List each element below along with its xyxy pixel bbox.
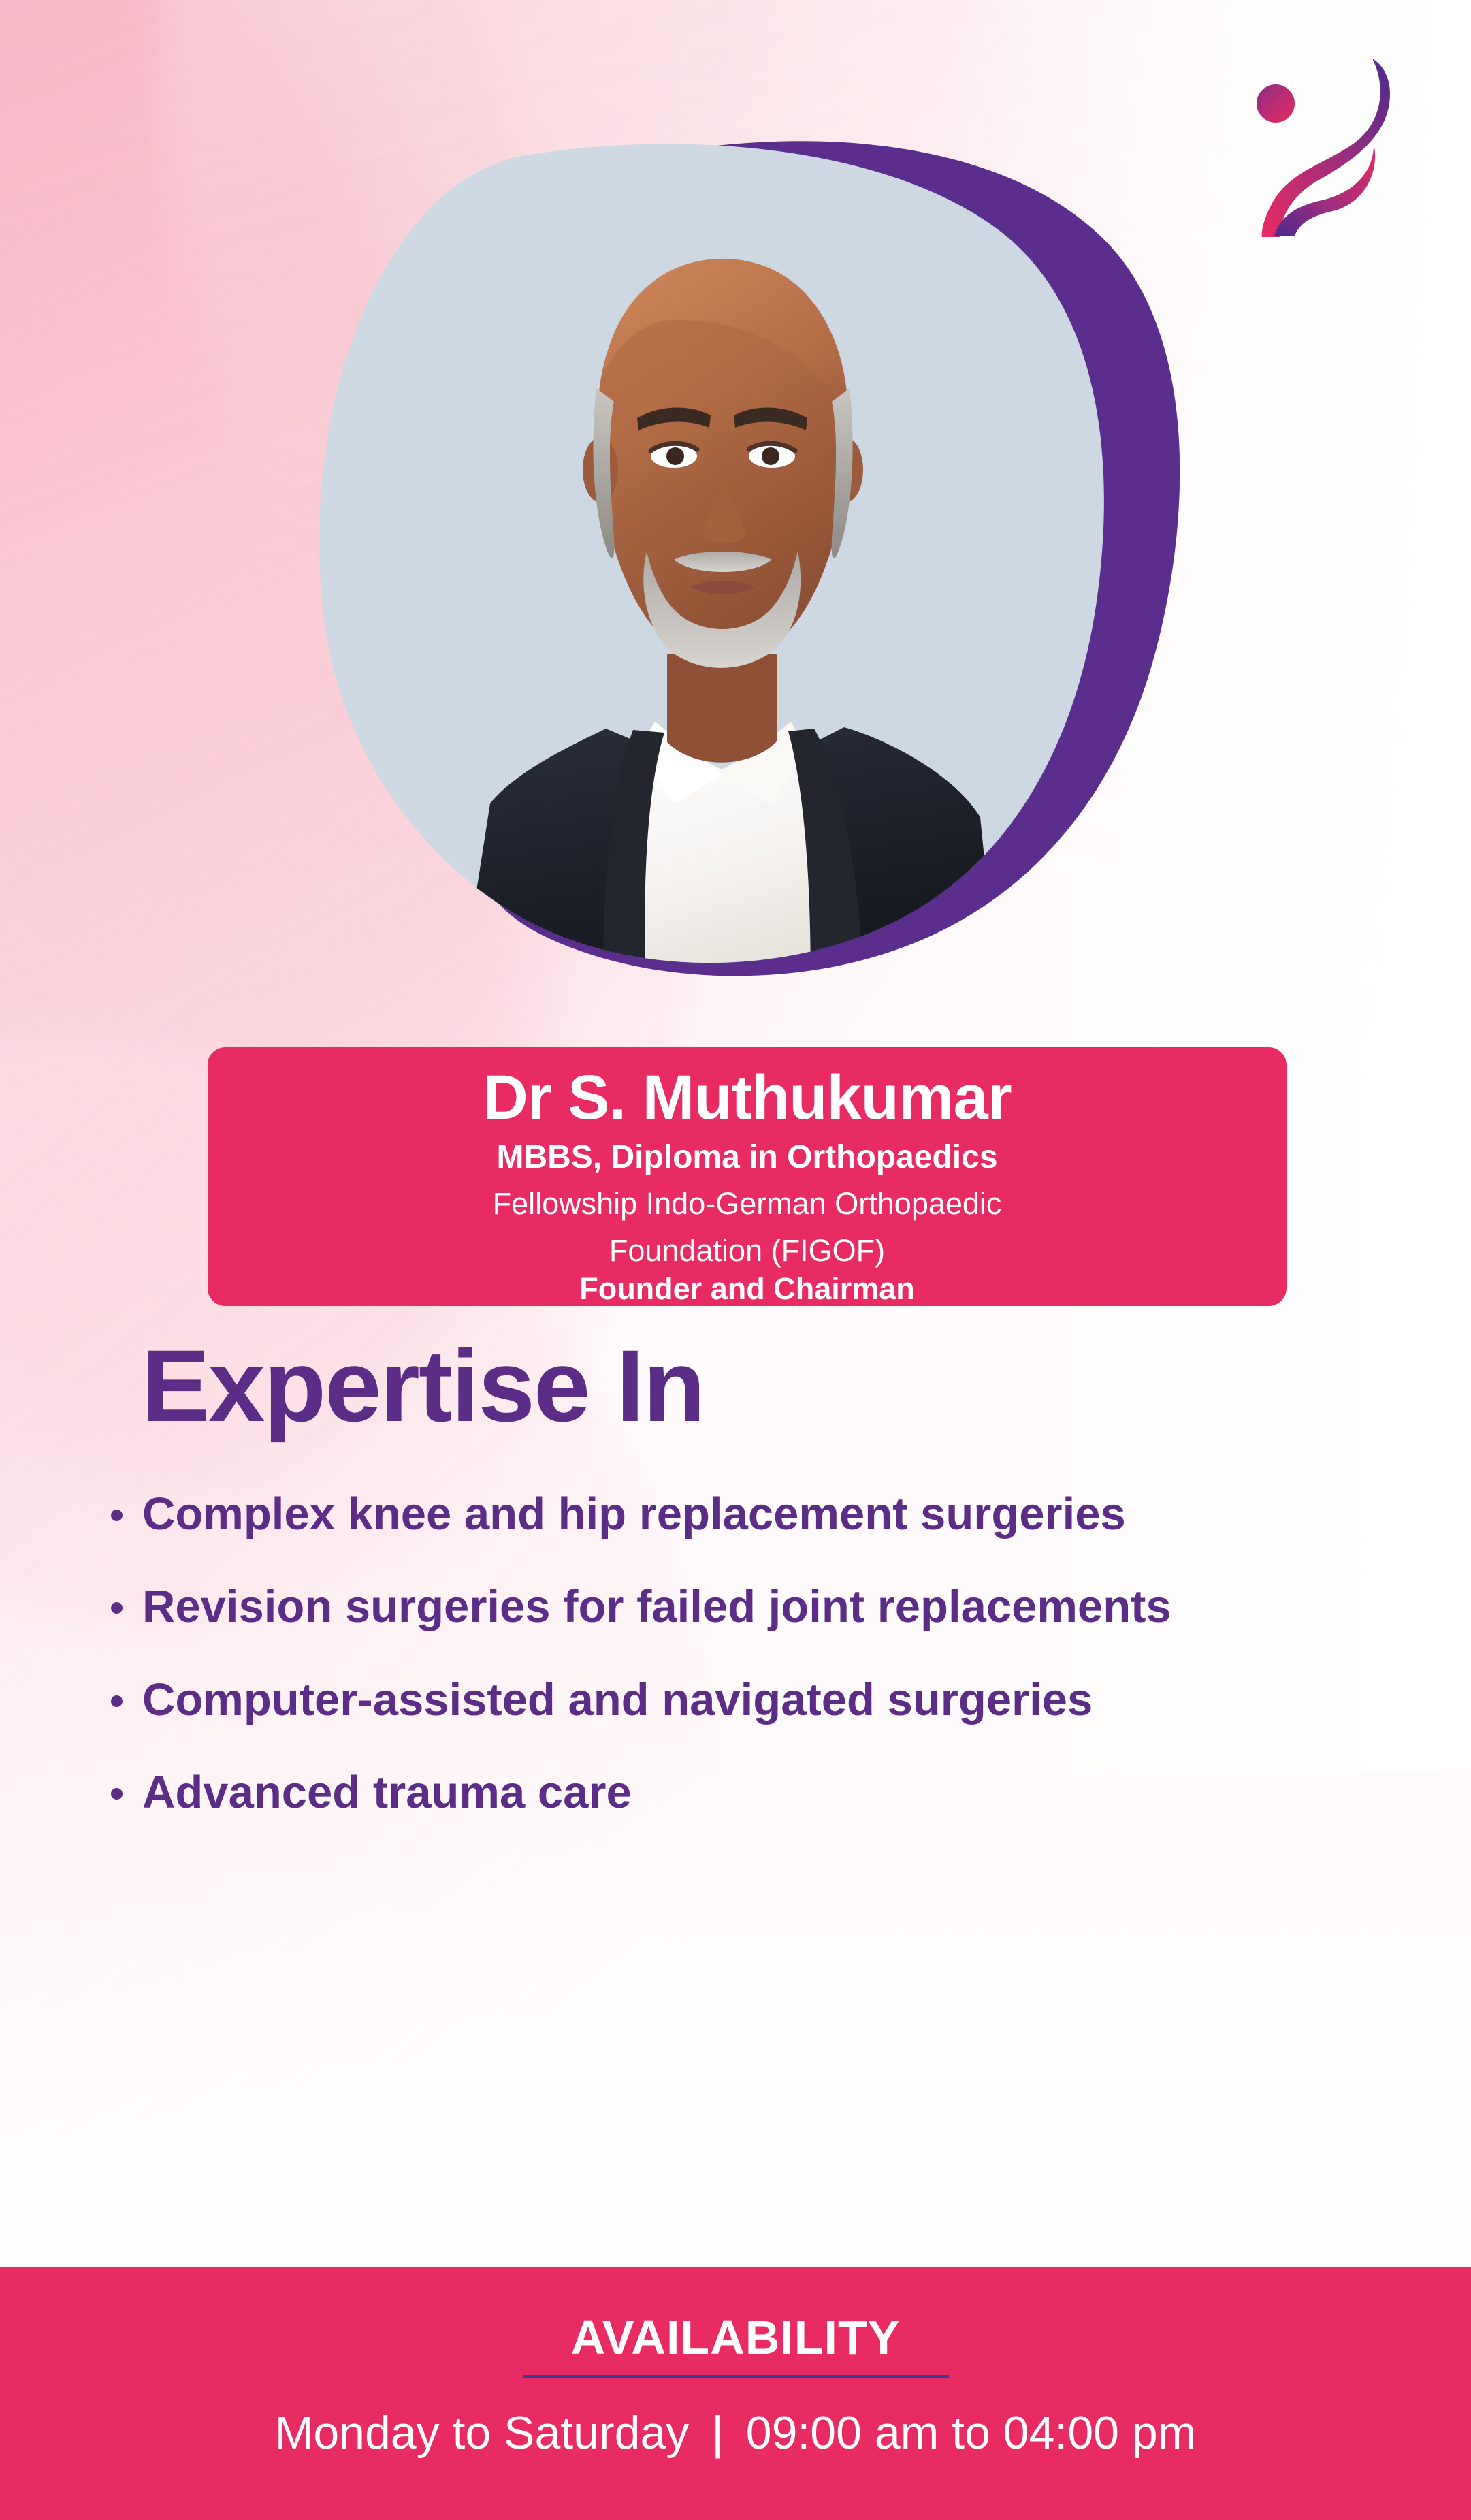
bullet-icon	[111, 1695, 123, 1707]
bullet-icon	[111, 1602, 123, 1614]
expertise-list: Complex knee and hip replacement surgeri…	[0, 1487, 1471, 1821]
doctor-fellowship-line1: Fellowship Indo-German Orthopaedic	[208, 1186, 1287, 1222]
availability-days: Monday to Saturday	[275, 2407, 690, 2459]
bullet-icon	[111, 1510, 123, 1521]
doctor-degree: MBBS, Diploma in Orthopaedics	[208, 1140, 1287, 1176]
availability-time-range: 09:00 am to 04:00 pm	[746, 2407, 1197, 2459]
bullet-icon	[111, 1788, 123, 1800]
doctor-name-card: Dr S. Muthukumar MBBS, Diploma in Orthop…	[208, 1047, 1287, 1306]
expertise-item-label: Computer-assisted and navigated surgerie…	[142, 1674, 1093, 1725]
expertise-item-label: Advanced trauma care	[142, 1767, 632, 1818]
list-item: Revision surgeries for failed joint repl…	[111, 1580, 1438, 1634]
expertise-item-label: Revision surgeries for failed joint repl…	[142, 1581, 1171, 1632]
person-swoosh-logo-icon	[1229, 46, 1393, 237]
doctor-name: Dr S. Muthukumar	[208, 1065, 1287, 1132]
availability-title: AVAILABILITY	[0, 2267, 1471, 2361]
expertise-heading: Expertise In	[142, 1335, 1471, 1437]
expertise-section: Expertise In Complex knee and hip replac…	[0, 1335, 1471, 1859]
doctor-role: Founder and Chairman	[208, 1271, 1287, 1307]
availability-underline	[523, 2375, 949, 2378]
expertise-item-label: Complex knee and hip replacement surgeri…	[142, 1488, 1126, 1540]
list-item: Advanced trauma care	[111, 1766, 1438, 1820]
availability-separator: |	[702, 2407, 733, 2459]
availability-hours: Monday to Saturday | 09:00 am to 04:00 p…	[0, 2408, 1471, 2459]
doctor-fellowship-line2: Foundation (FIGOF)	[208, 1233, 1287, 1269]
doctor-profile-poster: Dr S. Muthukumar MBBS, Diploma in Orthop…	[0, 0, 1471, 2520]
availability-footer: AVAILABILITY Monday to Saturday | 09:00 …	[0, 2267, 1471, 2520]
list-item: Computer-assisted and navigated surgerie…	[111, 1673, 1438, 1727]
list-item: Complex knee and hip replacement surgeri…	[111, 1487, 1438, 1542]
hero-portrait-group	[197, 116, 1198, 1015]
